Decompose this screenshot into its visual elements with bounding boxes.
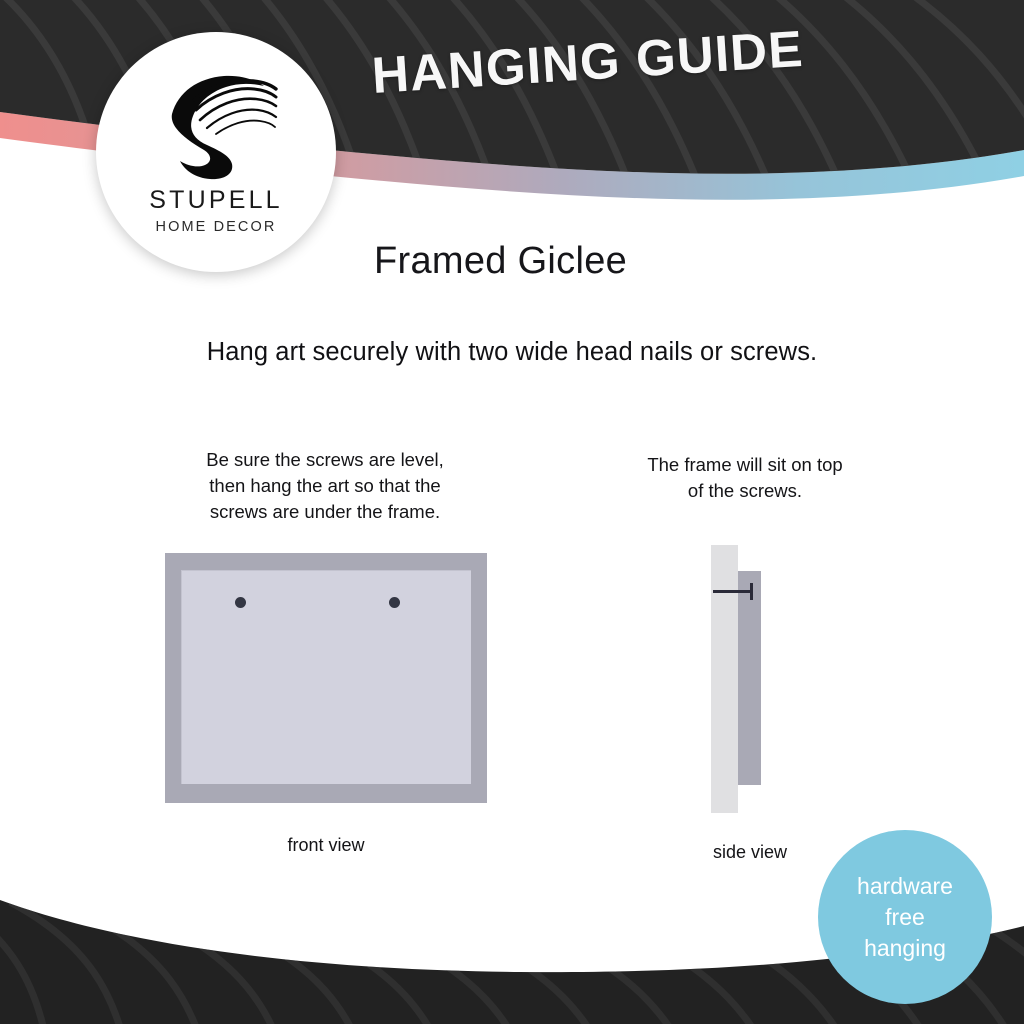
side-view-frame bbox=[738, 571, 761, 785]
badge-line-3: hanging bbox=[864, 933, 946, 964]
side-view-caption-line-1: The frame will sit on top bbox=[590, 452, 900, 478]
brand-logo-badge: STUPELL HOME DECOR bbox=[96, 32, 336, 272]
brand-tagline: HOME DECOR bbox=[156, 220, 277, 235]
hardware-free-hanging-badge: hardware free hanging bbox=[818, 830, 992, 1004]
side-view-caption: The frame will sit on top of the screws. bbox=[590, 452, 900, 504]
main-instruction-text: Hang art securely with two wide head nai… bbox=[0, 338, 1024, 367]
front-view-artwork-area bbox=[181, 570, 471, 784]
badge-line-2: free bbox=[885, 902, 925, 933]
badge-line-1: hardware bbox=[857, 871, 953, 902]
front-view-frame-diagram bbox=[165, 553, 487, 803]
side-view-label: side view bbox=[660, 842, 840, 863]
product-type-label: Framed Giclee bbox=[374, 240, 627, 283]
side-view-frame-diagram bbox=[700, 545, 800, 813]
stupell-swoosh-logo-icon bbox=[152, 66, 280, 182]
front-view-caption-line-2: then hang the art so that the bbox=[160, 473, 490, 499]
front-view-screw-dot-right bbox=[389, 597, 400, 608]
front-view-caption-line-3: screws are under the frame. bbox=[160, 499, 490, 525]
front-view-caption-line-1: Be sure the screws are level, bbox=[160, 447, 490, 473]
side-view-screw-shaft bbox=[713, 590, 753, 593]
front-view-screw-dot-left bbox=[235, 597, 246, 608]
hanging-guide-page: STUPELL HOME DECOR HANGING GUIDE Framed … bbox=[0, 0, 1024, 1024]
side-view-caption-line-2: of the screws. bbox=[590, 478, 900, 504]
front-view-label: front view bbox=[165, 835, 487, 856]
front-view-caption: Be sure the screws are level, then hang … bbox=[160, 447, 490, 525]
side-view-wall bbox=[711, 545, 738, 813]
brand-name: STUPELL bbox=[149, 188, 283, 213]
side-view-screw-head bbox=[750, 583, 753, 600]
